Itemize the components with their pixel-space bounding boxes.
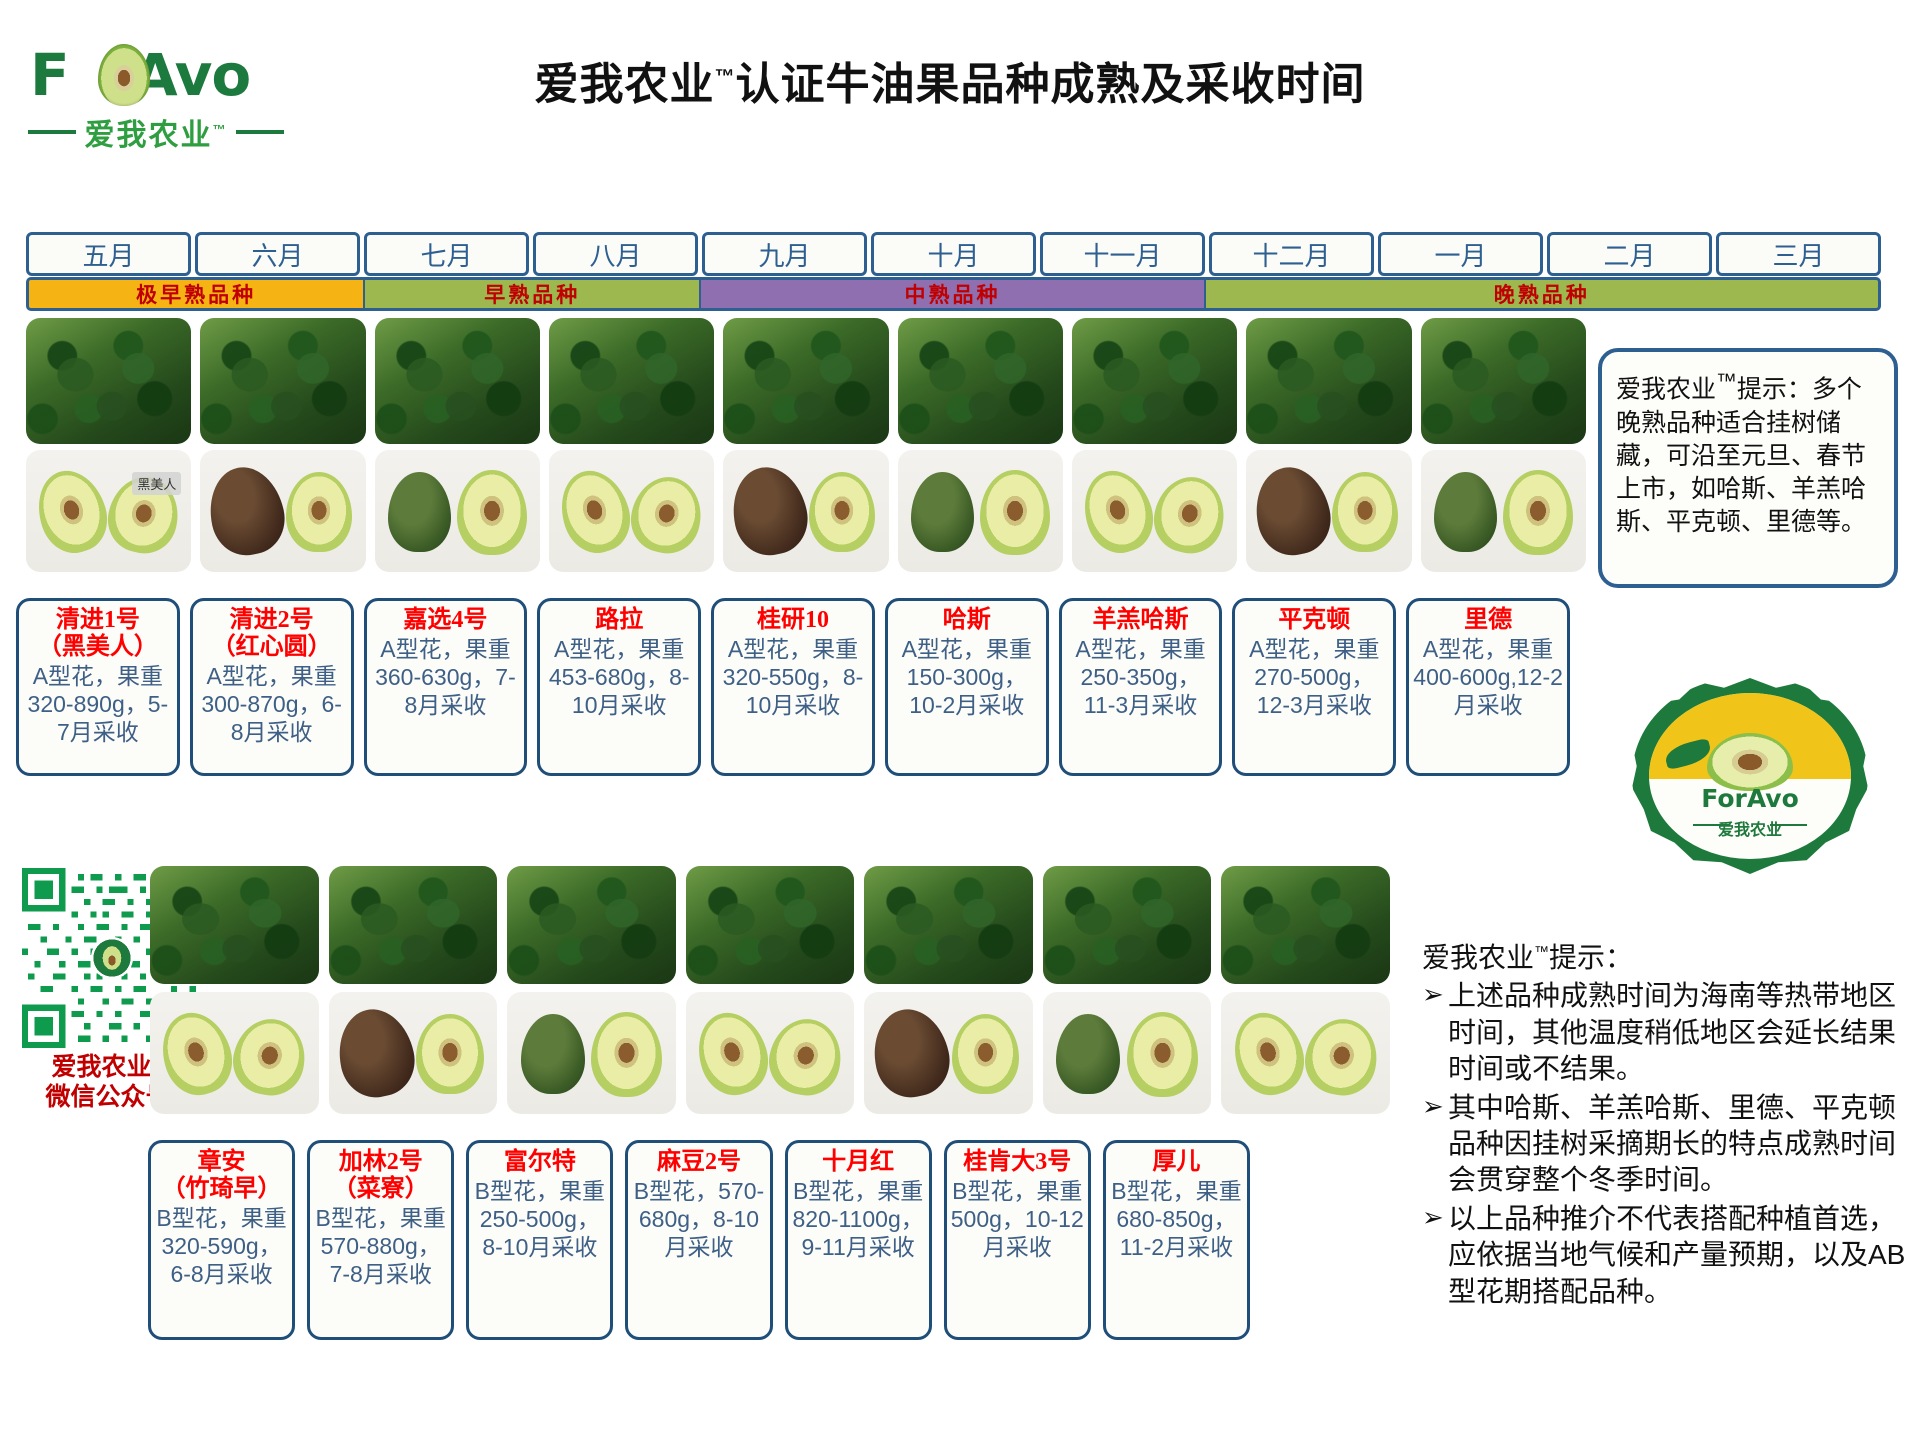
- fruit-photo-guiyan10: [723, 450, 888, 572]
- variety-card-b-1[interactable]: 章安（竹琦早）B型花，果重320-590g，6-8月采收: [148, 1140, 295, 1340]
- infographic-page: ForAvo 爱我农业™ 爱我农业™认证牛油果品种成熟及采收时间 五月六月七月八…: [0, 0, 1920, 1440]
- variety-name: 哈斯: [892, 607, 1042, 634]
- avocado-icon: [98, 44, 150, 106]
- variety-description: A型花，果重320-550g，8-10月采收: [718, 635, 868, 719]
- variety-alias: （黑美人）: [23, 634, 173, 661]
- month-cell-3: 七月: [364, 232, 529, 276]
- variety-alias: （竹琦早）: [155, 1176, 288, 1203]
- variety-name: 章安: [155, 1149, 288, 1176]
- variety-description: B型花，果重570-880g，7-8月采收: [314, 1204, 447, 1288]
- fruit-photo-qingjin2: [200, 450, 365, 572]
- photo-caption: 黑美人: [132, 472, 181, 495]
- variety-card-b-4[interactable]: 麻豆2号B型花，570-680g，8-10月采收: [625, 1140, 772, 1340]
- note-item-1: ➢上述品种成熟时间为海南等热带地区时间，其他温度稍低地区会延长结果时间或不结果。: [1422, 978, 1912, 1087]
- row2-tree-photos: [150, 866, 1390, 984]
- variety-name: 清进2号: [197, 607, 347, 634]
- fruit-photo-qingjin1: 黑美人: [26, 450, 191, 572]
- logo-wordmark-pre: F: [30, 41, 66, 109]
- trademark-icon: ™: [213, 122, 228, 137]
- variety-alias: （菜寮）: [314, 1176, 447, 1203]
- variety-name: 麻豆2号: [632, 1149, 765, 1176]
- tree-photo-yanggaohass: [1072, 318, 1237, 444]
- tree-photo-houer: [1221, 866, 1390, 984]
- fruit-photo-fuerte: [507, 992, 676, 1114]
- tree-photo-shiyuehong: [864, 866, 1033, 984]
- month-cell-1: 五月: [26, 232, 191, 276]
- trademark-icon: ™: [1534, 944, 1549, 961]
- variety-name: 加林2号: [314, 1149, 447, 1176]
- variety-description: B型花，果重500g，10-12月采收: [951, 1177, 1084, 1261]
- variety-card-a-4[interactable]: 路拉A型花，果重453-680g，8-10月采收: [537, 598, 701, 776]
- month-cell-5: 九月: [702, 232, 867, 276]
- fruit-photo-lula: [549, 450, 714, 572]
- variety-card-b-3[interactable]: 富尔特B型花，果重250-500g，8-10月采收: [466, 1140, 613, 1340]
- fruit-photo-guikenda3: [1043, 992, 1212, 1114]
- month-cell-8: 十二月: [1209, 232, 1374, 276]
- notes-heading: 爱我农业™提示：: [1422, 940, 1912, 976]
- fruit-photo-jialin2: [329, 992, 498, 1114]
- month-timeline: 五月六月七月八月九月十月十一月十二月一月二月三月: [26, 232, 1881, 276]
- fruit-photo-pinkerton: [1246, 450, 1411, 572]
- tree-photo-qingjin2: [200, 318, 365, 444]
- variety-name: 羊羔哈斯: [1066, 607, 1216, 634]
- variety-name: 清进1号: [23, 607, 173, 634]
- variety-description: A型花，果重400-600g,12-2月采收: [1413, 635, 1563, 719]
- variety-description: B型花，果重680-850g，11-2月采收: [1110, 1177, 1243, 1261]
- month-cell-11: 三月: [1716, 232, 1881, 276]
- row2-fruit-photos: [150, 992, 1390, 1114]
- trademark-icon: ™: [1716, 370, 1737, 393]
- variety-name: 平克顿: [1239, 607, 1389, 634]
- variety-description: A型花，果重150-300g，10-2月采收: [892, 635, 1042, 719]
- tree-photo-qingjin1: [26, 318, 191, 444]
- logo-subtitle: 爱我农业™: [22, 110, 290, 154]
- variety-name: 桂研10: [718, 607, 868, 634]
- month-cell-4: 八月: [533, 232, 698, 276]
- tree-photo-lula: [549, 318, 714, 444]
- fruit-photo-reed: [1421, 450, 1586, 572]
- variety-card-b-6[interactable]: 桂肯大3号B型花，果重500g，10-12月采收: [944, 1140, 1091, 1340]
- variety-card-a-1[interactable]: 清进1号（黑美人）A型花，果重320-890g，5-7月采收: [16, 598, 180, 776]
- tip-box-top: 爱我农业™提示：多个晚熟品种适合挂树储藏，可沿至元旦、春节上市，如哈斯、羊羔哈斯…: [1598, 348, 1898, 588]
- row1-tree-photos: [26, 318, 1586, 444]
- variety-card-b-2[interactable]: 加林2号（菜寮）B型花，果重570-880g，7-8月采收: [307, 1140, 454, 1340]
- page-title-post: 认证牛油果品种成熟及采收时间: [736, 60, 1366, 109]
- note-item-3: ➢以上品种推介不代表搭配种植首选，应依据当地气候和产量预期，以及AB型花期搭配品…: [1422, 1201, 1912, 1310]
- fruit-photo-shiyuehong: [864, 992, 1033, 1114]
- foravo-seal: ForAvo 爱我农业: [1632, 678, 1868, 874]
- page-title: 爱我农业™认证牛油果品种成熟及采收时间: [300, 48, 1600, 112]
- variety-name: 富尔特: [473, 1149, 606, 1176]
- variety-card-a-2[interactable]: 清进2号（红心圆）A型花，果重300-870g，6-8月采收: [190, 598, 354, 776]
- variety-name: 厚儿: [1110, 1149, 1243, 1176]
- fruit-photo-madou2: [686, 992, 855, 1114]
- variety-name: 里德: [1413, 607, 1563, 634]
- variety-alias: （红心圆）: [197, 634, 347, 661]
- variety-name: 路拉: [544, 607, 694, 634]
- variety-card-a-8[interactable]: 平克顿A型花，果重270-500g，12-3月采收: [1232, 598, 1396, 776]
- season-band-1: 极早熟品种: [29, 280, 365, 308]
- tree-photo-reed: [1421, 318, 1586, 444]
- tree-photo-hass: [898, 318, 1063, 444]
- fruit-photo-yanggaohass: [1072, 450, 1237, 572]
- note-item-2: ➢其中哈斯、羊羔哈斯、里德、平克顿品种因挂树采摘期长的特点成熟时间会贯穿整个冬季…: [1422, 1090, 1912, 1199]
- note-text: 上述品种成熟时间为海南等热带地区时间，其他温度稍低地区会延长结果时间或不结果。: [1448, 978, 1912, 1087]
- month-cell-10: 二月: [1547, 232, 1712, 276]
- fruit-photo-jiaxuan4: [375, 450, 540, 572]
- trademark-icon: ™: [715, 66, 736, 88]
- notes-list: ➢上述品种成熟时间为海南等热带地区时间，其他温度稍低地区会延长结果时间或不结果。…: [1422, 978, 1912, 1310]
- variety-description: B型花，果重820-1100g，9-11月采收: [792, 1177, 925, 1261]
- note-text: 其中哈斯、羊羔哈斯、里德、平克顿品种因挂树采摘期长的特点成熟时间会贯穿整个冬季时…: [1448, 1090, 1912, 1199]
- month-cell-7: 十一月: [1040, 232, 1205, 276]
- tree-photo-fuerte: [507, 866, 676, 984]
- variety-description: A型花，果重270-500g，12-3月采收: [1239, 635, 1389, 719]
- page-title-pre: 爱我农业: [535, 60, 715, 109]
- variety-description: B型花，570-680g，8-10月采收: [632, 1177, 765, 1261]
- variety-name: 嘉选4号: [371, 607, 521, 634]
- variety-card-a-6[interactable]: 哈斯A型花，果重150-300g，10-2月采收: [885, 598, 1049, 776]
- variety-description: A型花，果重250-350g，11-3月采收: [1066, 635, 1216, 719]
- season-band-row: 极早熟品种早熟品种中熟品种晚熟品种: [26, 277, 1881, 311]
- tree-photo-jiaxuan4: [375, 318, 540, 444]
- row1-fruit-photos: 黑美人: [26, 450, 1586, 572]
- tree-photo-jialin2: [329, 866, 498, 984]
- month-cell-9: 一月: [1378, 232, 1543, 276]
- seal-subtitle: 爱我农业: [1649, 816, 1851, 840]
- tree-photo-guiyan10: [723, 318, 888, 444]
- variety-card-a-5[interactable]: 桂研10A型花，果重320-550g，8-10月采收: [711, 598, 875, 776]
- note-text: 以上品种推介不代表搭配种植首选，应依据当地气候和产量预期，以及AB型花期搭配品种…: [1448, 1201, 1912, 1310]
- variety-description: B型花，果重320-590g，6-8月采收: [155, 1204, 288, 1288]
- fruit-photo-hass: [898, 450, 1063, 572]
- tree-photo-guikenda3: [1043, 866, 1212, 984]
- variety-name: 桂肯大3号: [951, 1149, 1084, 1176]
- variety-name: 十月红: [792, 1149, 925, 1176]
- season-band-4: 晚熟品种: [1206, 280, 1878, 308]
- variety-card-a-9[interactable]: 里德A型花，果重400-600g,12-2月采收: [1406, 598, 1570, 776]
- bullet-arrow-icon: ➢: [1422, 1090, 1448, 1124]
- season-band-2: 早熟品种: [365, 280, 701, 308]
- foravo-logo: ForAvo 爱我农业™: [22, 38, 290, 148]
- fruit-photo-zhangan: [150, 992, 319, 1114]
- seal-inner-disc: ForAvo 爱我农业: [1646, 690, 1854, 862]
- seal-wordmark: ForAvo: [1649, 784, 1851, 813]
- tree-photo-pinkerton: [1246, 318, 1411, 444]
- tree-photo-madou2: [686, 866, 855, 984]
- bullet-arrow-icon: ➢: [1422, 978, 1448, 1012]
- variety-card-a-7[interactable]: 羊羔哈斯A型花，果重250-350g，11-3月采收: [1059, 598, 1223, 776]
- variety-description: A型花，果重453-680g，8-10月采收: [544, 635, 694, 719]
- variety-description: A型花，果重320-890g，5-7月采收: [23, 662, 173, 746]
- notes-block: 爱我农业™提示： ➢上述品种成熟时间为海南等热带地区时间，其他温度稍低地区会延长…: [1422, 940, 1912, 1312]
- variety-description: B型花，果重250-500g，8-10月采收: [473, 1177, 606, 1261]
- variety-card-a-3[interactable]: 嘉选4号A型花，果重360-630g，7-8月采收: [364, 598, 528, 776]
- season-band-3: 中熟品种: [701, 280, 1205, 308]
- variety-card-b-7[interactable]: 厚儿B型花，果重680-850g，11-2月采收: [1103, 1140, 1250, 1340]
- fruit-photo-houer: [1221, 992, 1390, 1114]
- variety-description: A型花，果重300-870g，6-8月采收: [197, 662, 347, 746]
- month-cell-2: 六月: [195, 232, 360, 276]
- month-cell-6: 十月: [871, 232, 1036, 276]
- bullet-arrow-icon: ➢: [1422, 1201, 1448, 1235]
- variety-card-b-5[interactable]: 十月红B型花，果重820-1100g，9-11月采收: [785, 1140, 932, 1340]
- tree-photo-zhangan: [150, 866, 319, 984]
- variety-description: A型花，果重360-630g，7-8月采收: [371, 635, 521, 719]
